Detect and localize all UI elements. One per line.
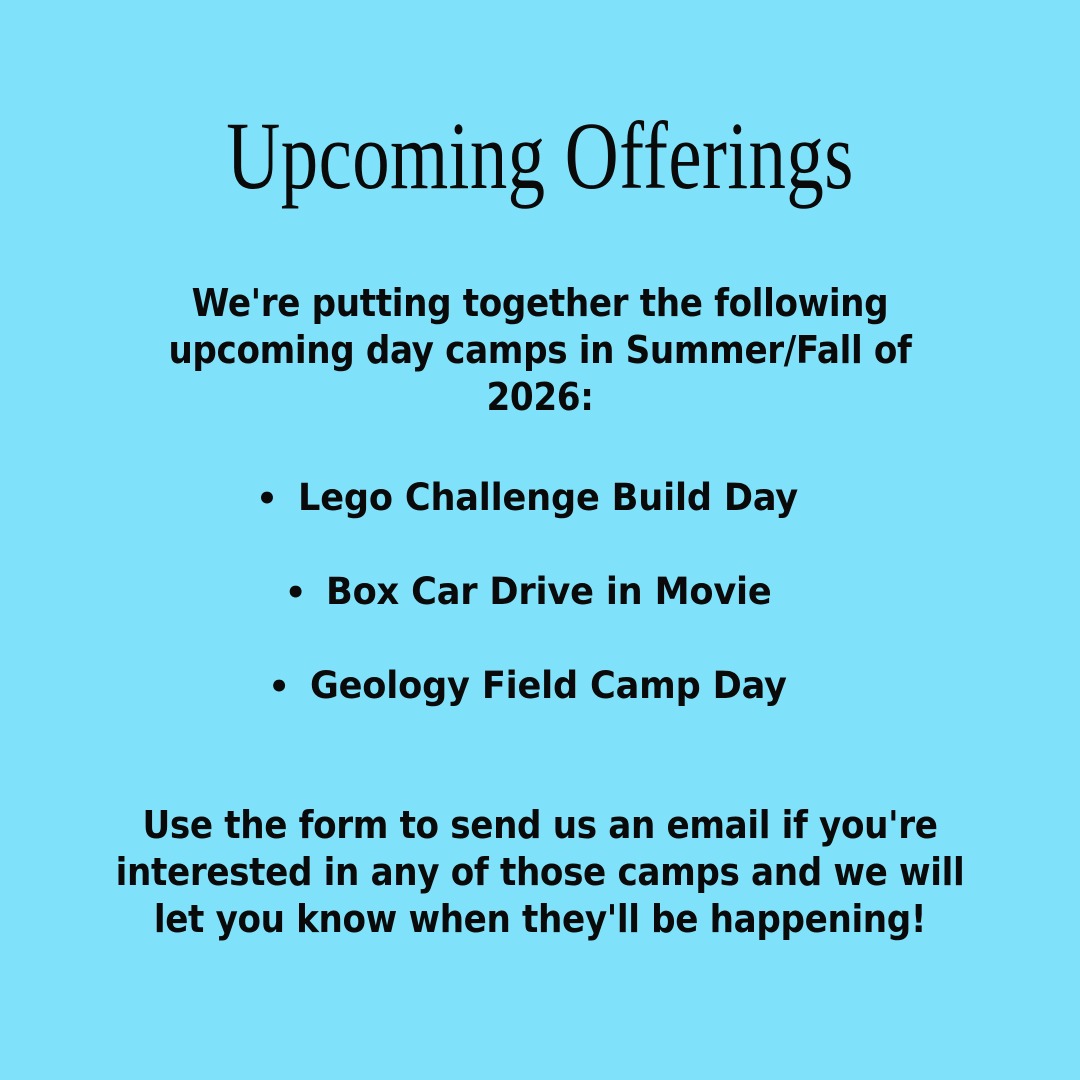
offering-label: Geology Field Camp Day xyxy=(310,663,787,709)
list-item: • Lego Challenge Build Day xyxy=(0,475,1080,522)
poster-body: We're putting together the following upc… xyxy=(0,280,1080,943)
offerings-list: • Lego Challenge Build Day • Box Car Dri… xyxy=(0,475,1080,710)
outro-paragraph: Use the form to send us an email if you'… xyxy=(108,802,972,943)
upcoming-offerings-poster: Upcoming Offerings We're putting togethe… xyxy=(0,0,1080,1080)
bullet-dot-icon: • xyxy=(285,570,307,616)
intro-paragraph: We're putting together the following upc… xyxy=(126,280,954,421)
page-title: Upcoming Offerings xyxy=(119,102,961,210)
bullet-dot-icon: • xyxy=(268,664,290,710)
list-item: • Box Car Drive in Movie xyxy=(0,569,1080,616)
bullet-dot-icon: • xyxy=(256,476,278,522)
offering-label: Box Car Drive in Movie xyxy=(326,569,772,615)
list-item: • Geology Field Camp Day xyxy=(0,663,1080,710)
offering-label: Lego Challenge Build Day xyxy=(298,475,798,521)
